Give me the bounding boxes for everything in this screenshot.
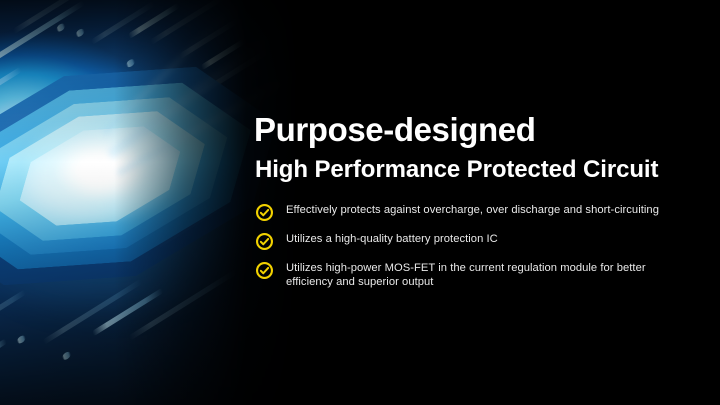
feature-list: Effectively protects against overcharge,…: [256, 203, 676, 300]
feature-text: Utilizes a high-quality battery protecti…: [286, 232, 498, 246]
content-panel: Purpose-designed High Performance Protec…: [254, 0, 720, 405]
check-circle-icon: [256, 204, 273, 221]
feature-text: Utilizes high-power MOS-FET in the curre…: [286, 261, 676, 289]
check-circle-icon: [256, 233, 273, 250]
page-title: Purpose-designed: [254, 113, 535, 146]
list-item: Utilizes high-power MOS-FET in the curre…: [256, 261, 676, 289]
check-circle-icon: [256, 262, 273, 279]
feature-text: Effectively protects against overcharge,…: [286, 203, 659, 217]
list-item: Effectively protects against overcharge,…: [256, 203, 676, 221]
promo-banner: Purpose-designed High Performance Protec…: [0, 0, 720, 405]
list-item: Utilizes a high-quality battery protecti…: [256, 232, 676, 250]
page-subtitle: High Performance Protected Circuit: [255, 158, 658, 182]
